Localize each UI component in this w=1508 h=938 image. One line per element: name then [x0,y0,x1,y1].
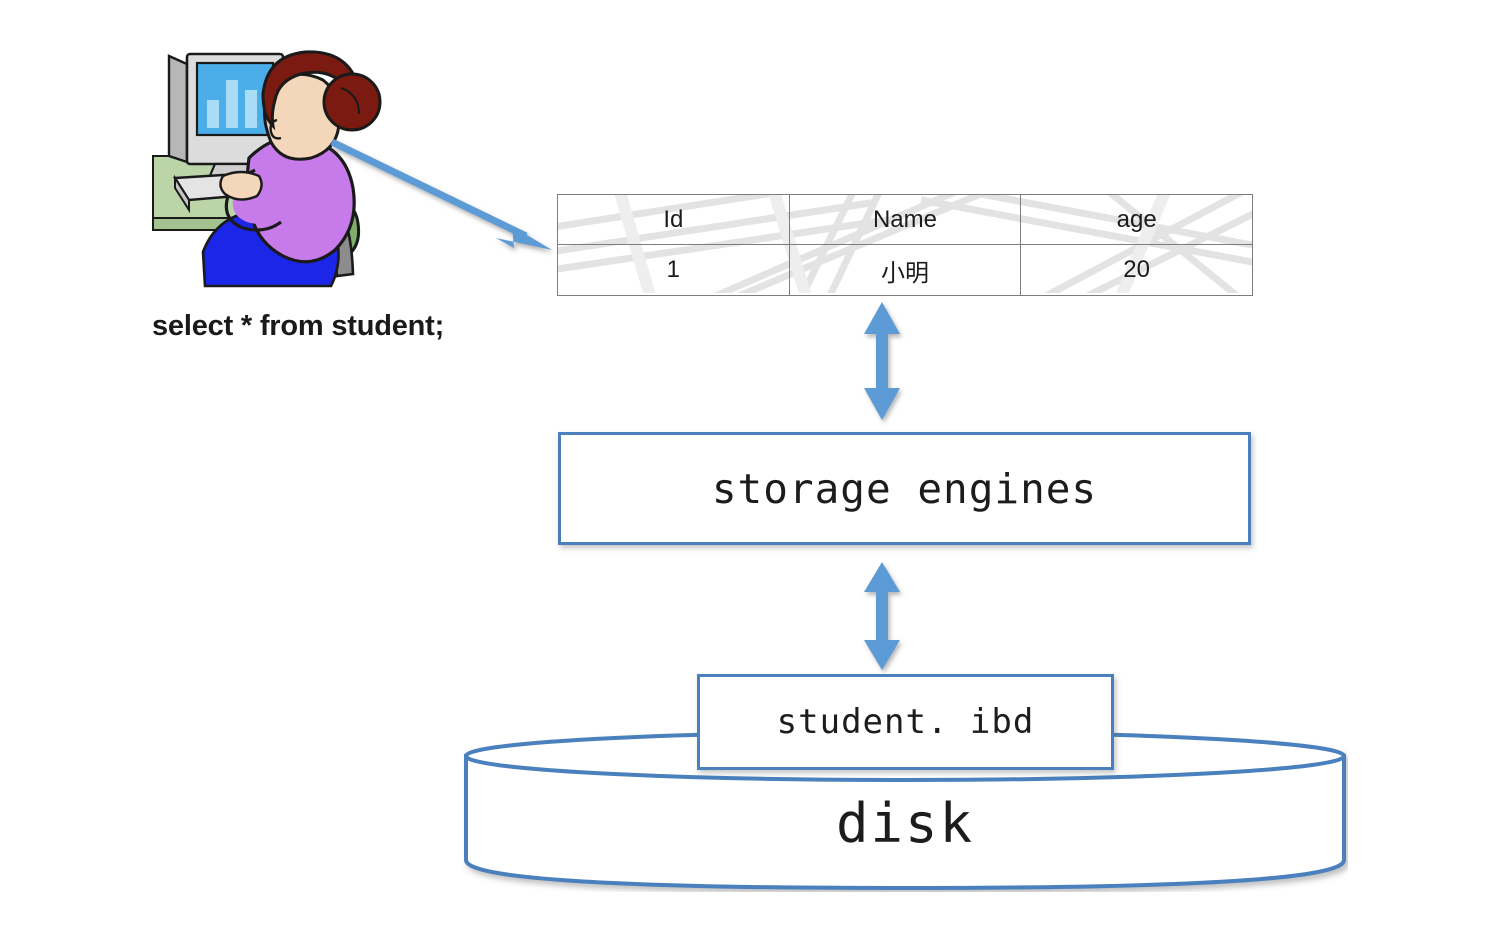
table-header-name: Name [789,195,1021,245]
result-table: Id Name age 1 小明 20 [557,194,1253,296]
screen-bar-3 [245,90,257,128]
storage-engines-to-file-arrow [852,560,912,672]
result-table-container: Id Name age 1 小明 20 [557,194,1253,293]
table-header-age: age [1021,195,1253,245]
table-row: 1 小明 20 [558,245,1253,296]
table-to-storage-engines-arrow [852,300,912,422]
table-header-row: Id Name age [558,195,1253,245]
data-file-box: student. ibd [697,674,1114,770]
table-cell-age: 20 [1021,245,1253,296]
screen-bar-1 [207,100,219,128]
table-cell-id: 1 [558,245,790,296]
table-cell-name: 小明 [789,245,1021,296]
storage-engines-label: storage engines [712,465,1097,513]
storage-engines-box: storage engines [558,432,1251,545]
screen-bar-2 [226,80,238,128]
query-arrow [330,140,560,255]
data-file-label: student. ibd [777,702,1035,742]
diagram-canvas: select * from student; [0,0,1508,938]
sql-query-caption: select * from student; [152,310,444,343]
table-header-id: Id [558,195,790,245]
